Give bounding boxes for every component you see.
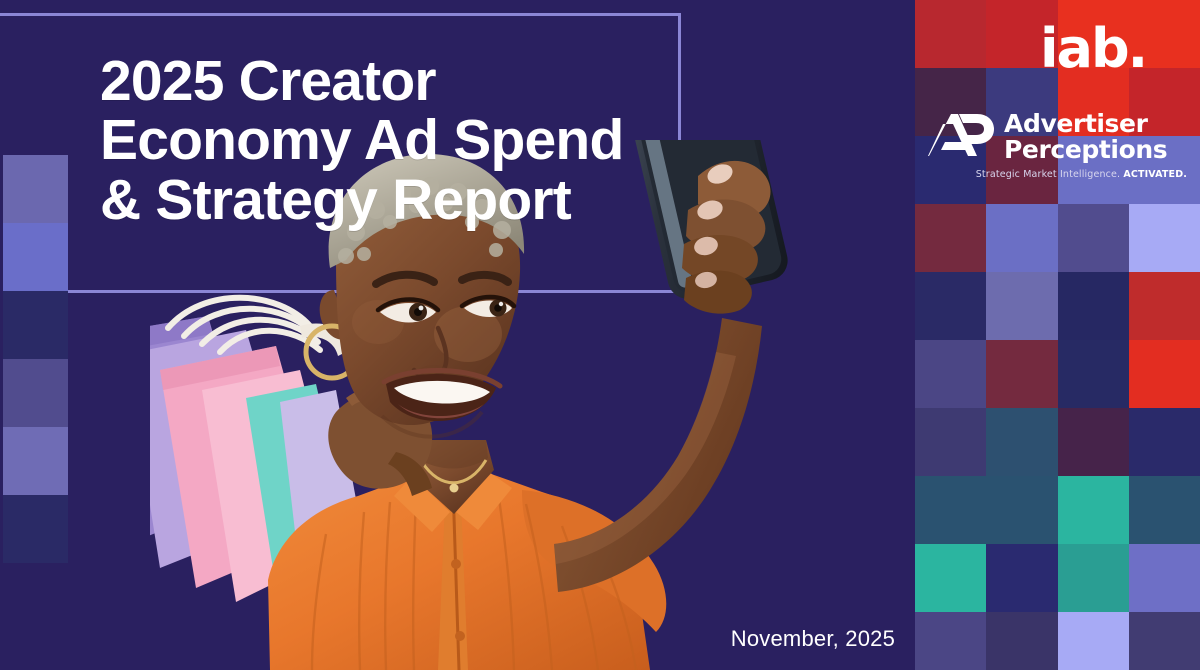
mosaic-cell-39	[1129, 612, 1200, 670]
mosaic-cell-19	[1129, 272, 1200, 340]
iab-logo: iab.	[1040, 22, 1146, 76]
mosaic-cell-29	[986, 476, 1057, 544]
left-square-5	[3, 495, 68, 563]
mosaic-cell-21	[986, 340, 1057, 408]
mosaic-cell-36	[915, 612, 986, 670]
mosaic-cell-16	[915, 272, 986, 340]
shopping-bags	[150, 298, 366, 602]
mosaic-cell-37	[986, 612, 1057, 670]
mosaic-cell-32	[915, 544, 986, 612]
mosaic-cell-38	[1058, 612, 1129, 670]
report-title: 2025 Creator Economy Ad Spend & Strategy…	[100, 52, 660, 230]
left-square-4	[3, 427, 68, 495]
mosaic-cell-27	[1129, 408, 1200, 476]
left-square-0	[3, 155, 68, 223]
selfie-hand	[682, 161, 771, 314]
left-square-2	[3, 291, 68, 359]
ap-monogram-icon	[925, 108, 995, 165]
mosaic-cell-12	[915, 204, 986, 272]
frame-line-top	[0, 13, 681, 16]
ap-tagline-bold: ACTIVATED.	[1123, 169, 1187, 180]
left-square-1	[3, 223, 68, 291]
mosaic-cell-13	[986, 204, 1057, 272]
mosaic-cell-25	[986, 408, 1057, 476]
report-date: November, 2025	[731, 626, 895, 652]
report-cover-slide: 2025 Creator Economy Ad Spend & Strategy…	[0, 0, 1200, 670]
resting-hand	[328, 379, 432, 496]
mosaic-cell-23	[1129, 340, 1200, 408]
frame-line-right	[678, 13, 681, 293]
mosaic-cell-24	[915, 408, 986, 476]
mosaic-cell-34	[1058, 544, 1129, 612]
mosaic-grid	[915, 0, 1200, 670]
mosaic-cell-15	[1129, 204, 1200, 272]
necklace	[422, 460, 486, 483]
advertiser-perceptions-logo: Advertiser Perceptions Strategic Market …	[925, 108, 1187, 180]
mosaic-cell-26	[1058, 408, 1129, 476]
torso-shirt	[268, 470, 666, 670]
mosaic-cell-35	[1129, 544, 1200, 612]
ap-tagline-regular: Strategic Market Intelligence.	[976, 169, 1124, 180]
frame-line-bottom	[68, 290, 681, 293]
mosaic-cell-30	[1058, 476, 1129, 544]
ap-wordmark-line2: Perceptions	[1004, 135, 1167, 164]
ap-wordmark: Advertiser Perceptions	[1004, 111, 1167, 162]
mosaic-cell-18	[1058, 272, 1129, 340]
mosaic-cell-17	[986, 272, 1057, 340]
mosaic-cell-28	[915, 476, 986, 544]
mosaic-cell-22	[1058, 340, 1129, 408]
mosaic-cell-20	[915, 340, 986, 408]
mosaic-cell-14	[1058, 204, 1129, 272]
selfie-arm	[554, 318, 762, 592]
ap-tagline: Strategic Market Intelligence. ACTIVATED…	[925, 169, 1187, 180]
mosaic-cell-31	[1129, 476, 1200, 544]
artwork-panel: 2025 Creator Economy Ad Spend & Strategy…	[0, 0, 915, 670]
left-square-3	[3, 359, 68, 427]
mosaic-cell-0	[915, 0, 986, 68]
mosaic-cell-33	[986, 544, 1057, 612]
